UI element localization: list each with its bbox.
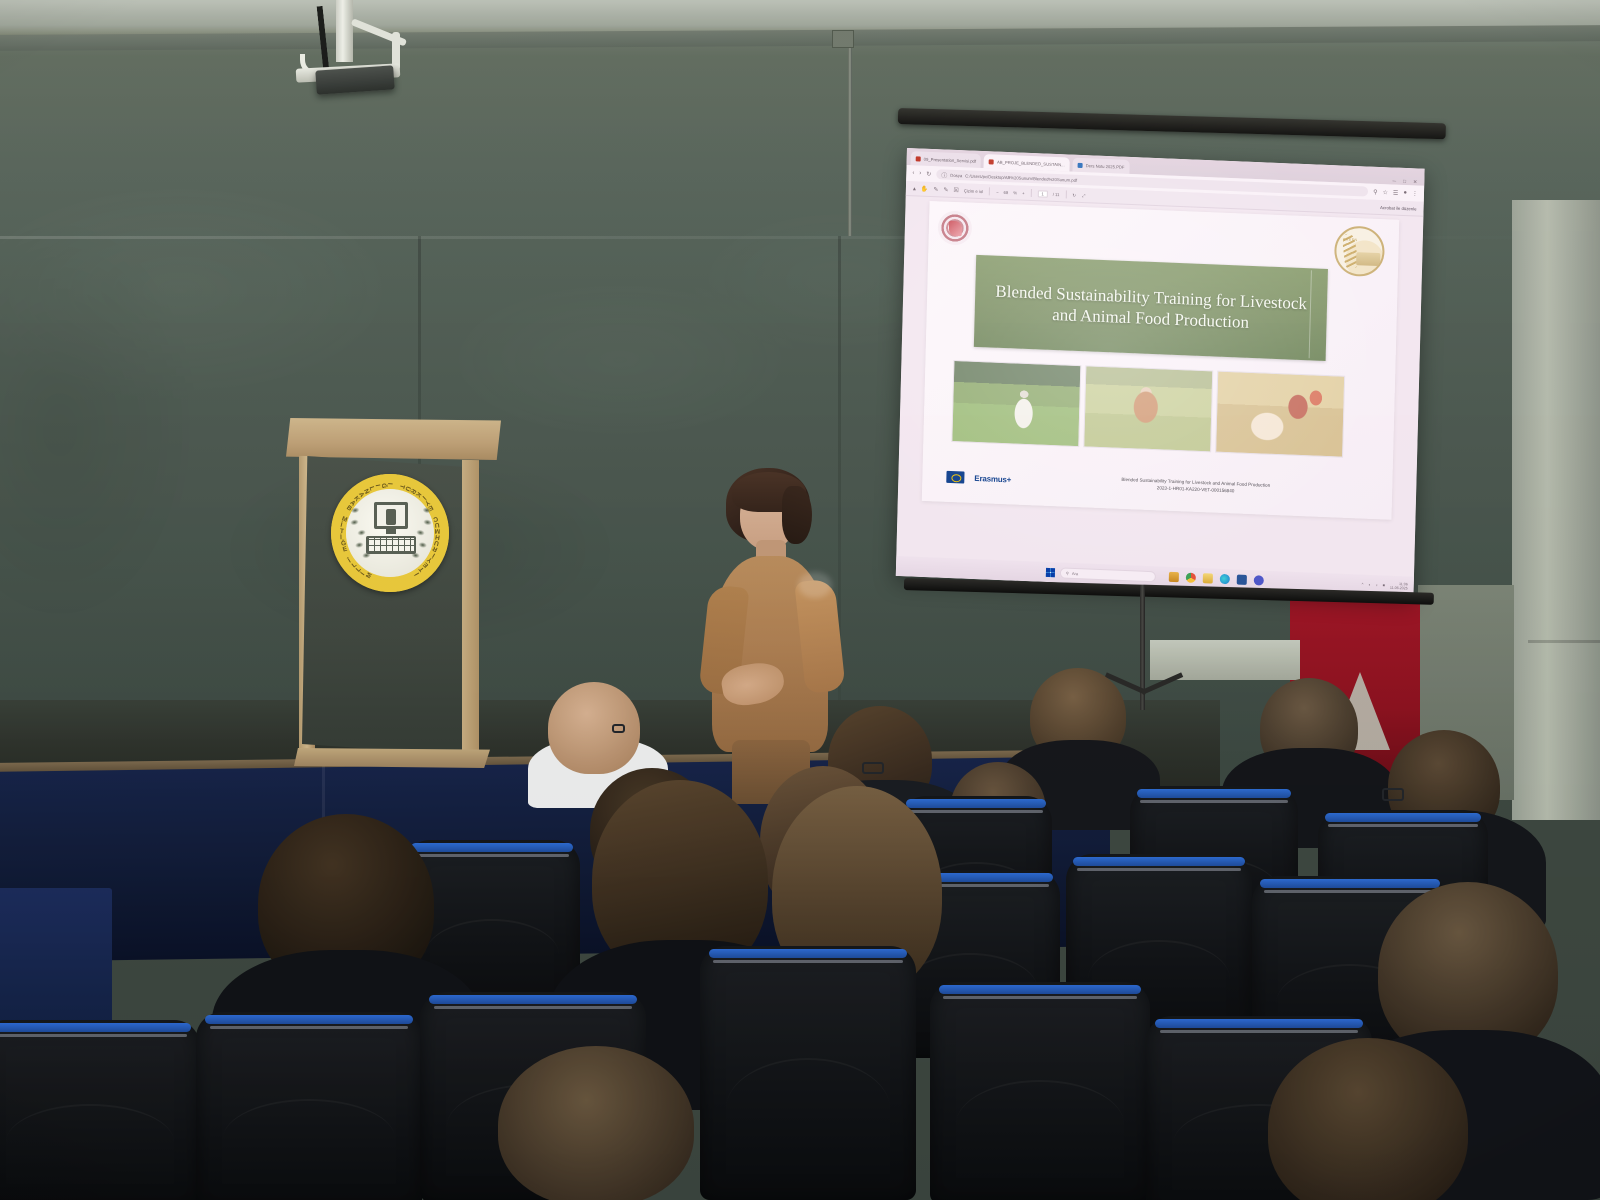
- rooster-photo: [1215, 371, 1345, 458]
- zoom-level-value: 68: [1004, 189, 1009, 194]
- address-security-label: Dosya: [950, 172, 962, 177]
- tab-favicon-icon: [989, 159, 994, 164]
- auditorium-seat[interactable]: [700, 946, 916, 1200]
- pdf-hand-icon[interactable]: ✋: [921, 185, 929, 192]
- eyeglasses: [1382, 788, 1404, 801]
- page-total-label: / 11: [1053, 191, 1060, 196]
- pdf-select-icon[interactable]: ▴: [913, 185, 916, 192]
- browser-menu-icon[interactable]: ⋮: [1412, 190, 1418, 197]
- toolbar-separator: [1030, 189, 1031, 197]
- taskbar-word-icon[interactable]: [1237, 575, 1247, 585]
- presenter-shoulder-highlight: [798, 572, 832, 598]
- auditorium-seat[interactable]: [196, 1012, 422, 1200]
- projection-screen-assembly: 09_Presentation_Servisi.pdf AB_PROJE_BLE…: [898, 108, 1438, 608]
- zoom-out-button[interactable]: −: [996, 189, 999, 194]
- projection-screen-surface: 09_Presentation_Servisi.pdf AB_PROJE_BLE…: [896, 148, 1425, 597]
- wall-conduit: [848, 36, 852, 236]
- lecture-hall-photo: MİLLÎ EĞİTİM BAKANLIĞI TÜRKİYE CUMHURİYE…: [0, 0, 1600, 1200]
- zoom-unit: %: [1013, 190, 1017, 195]
- taskbar-edge-icon[interactable]: [1220, 574, 1230, 584]
- conduit-junction-box: [832, 30, 854, 48]
- page-number-input[interactable]: 1: [1037, 190, 1048, 197]
- audience-area: [0, 620, 1600, 1200]
- browser-window: 09_Presentation_Servisi.pdf AB_PROJE_BLE…: [896, 148, 1425, 597]
- projector-mount-pole: [336, 0, 353, 62]
- collections-icon[interactable]: ☰: [1393, 189, 1399, 196]
- rotate-button[interactable]: ↻: [1072, 192, 1076, 197]
- erasmus-programme-label: Erasmus+: [974, 473, 1011, 483]
- pdf-zoom-group: − 68 % +: [996, 189, 1024, 195]
- slide-title: Blended Sustainability Training for Live…: [974, 279, 1327, 336]
- person-head: [498, 1046, 694, 1200]
- start-button-icon[interactable]: [1046, 567, 1055, 576]
- monitor-stand-icon: [386, 529, 396, 534]
- screen-top-bar: [898, 108, 1446, 139]
- browser-tab-label: Ders Notu 2025.PDF: [1086, 163, 1125, 170]
- pdf-tool-group-left: ▴ ✋ ✎ ✎ ☒ Çizim e iol: [913, 185, 983, 195]
- taskbar-file-explorer-icon[interactable]: [1169, 572, 1179, 582]
- reload-icon[interactable]: ↻: [926, 170, 931, 177]
- tab-favicon-icon: [916, 156, 921, 161]
- pdf-slide-page: GREEN Blended Sustainability Training fo…: [922, 201, 1400, 520]
- auditorium-seat[interactable]: [0, 1020, 200, 1200]
- taskbar-search-placeholder: Ara: [1072, 570, 1078, 575]
- pdf-page-group: 1 / 11: [1037, 190, 1059, 198]
- taskbar-teams-icon[interactable]: [1254, 575, 1264, 585]
- acrobat-edit-button[interactable]: Acrobat ile düzenle: [1380, 205, 1417, 211]
- browser-tab-label: 09_Presentation_Servisi.pdf: [924, 156, 976, 163]
- eu-flag-logo: [946, 471, 964, 484]
- taskbar-pinned-apps: [1169, 572, 1264, 586]
- search-icon: ⚲: [1066, 570, 1069, 575]
- sheep-in-pasture-photo: [951, 360, 1081, 447]
- cow-in-grass-photo: [1083, 365, 1213, 452]
- taskbar-system-tray: ^ ◐ ♪ ■ 11:06 11.06.2025: [1362, 580, 1408, 591]
- pdf-draw-label: Çizim e iol: [964, 188, 983, 194]
- address-url: C:/Users/pc/Desktop/AB%20Sunum/Blended%2…: [965, 173, 1077, 182]
- volume-icon[interactable]: ♪: [1376, 583, 1378, 587]
- show-hidden-icons-icon[interactable]: ^: [1362, 583, 1364, 587]
- file-icon: ⓘ: [941, 170, 947, 179]
- taskbar-search-box[interactable]: ⚲ Ara: [1060, 567, 1156, 582]
- toolbar-separator: [989, 187, 990, 195]
- forward-icon[interactable]: ›: [919, 171, 921, 177]
- taskbar-clock[interactable]: 11:06 11.06.2025: [1390, 581, 1408, 591]
- zoom-in-button[interactable]: +: [1022, 190, 1025, 195]
- battery-icon[interactable]: ■: [1383, 583, 1385, 587]
- pdf-draw-icon[interactable]: ✎: [943, 186, 948, 193]
- pdf-highlight-icon[interactable]: ✎: [933, 186, 938, 193]
- slide-photo-row: [951, 360, 1345, 458]
- toolbar-separator: [1065, 190, 1066, 198]
- taskbar-firefox-icon[interactable]: [1186, 572, 1196, 582]
- project-footer-text: Blended Sustainability Training for Live…: [1021, 473, 1370, 501]
- taskbar-folder-icon[interactable]: [1203, 573, 1213, 583]
- wheat-farm-circular-logo: GREEN: [1334, 225, 1385, 277]
- keyboard-icon: [366, 536, 416, 554]
- slide-title-banner: Blended Sustainability Training for Live…: [974, 255, 1328, 361]
- search-icon[interactable]: ⚲: [1373, 188, 1378, 195]
- browser-tab-label: AB_PROJE_BLENDED_SUSTAIN...: [997, 159, 1065, 167]
- presenter-hair-side: [782, 486, 812, 544]
- podium-top-surface: [286, 418, 501, 460]
- eyeglasses: [862, 762, 884, 774]
- logo-caption: GREEN: [1343, 238, 1358, 243]
- profile-icon[interactable]: ●: [1403, 190, 1407, 196]
- slide-footer: Erasmus+ Blended Sustainability Training…: [946, 464, 1370, 507]
- computer-monitor-icon: [374, 502, 408, 529]
- back-icon[interactable]: ‹: [912, 170, 914, 176]
- university-crest-logo: [937, 210, 972, 245]
- favorite-star-icon[interactable]: ☆: [1383, 189, 1389, 196]
- stage-barrier: [0, 888, 112, 1028]
- eyeglasses: [612, 724, 625, 733]
- tab-favicon-icon: [1078, 162, 1083, 167]
- fit-page-button[interactable]: ⤢: [1082, 193, 1085, 198]
- person-head: [548, 682, 640, 774]
- pdf-erase-icon[interactable]: ☒: [953, 186, 959, 193]
- clock-date: 11.06.2025: [1390, 586, 1408, 591]
- auditorium-seat[interactable]: [930, 982, 1150, 1200]
- network-icon[interactable]: ◐: [1368, 583, 1370, 587]
